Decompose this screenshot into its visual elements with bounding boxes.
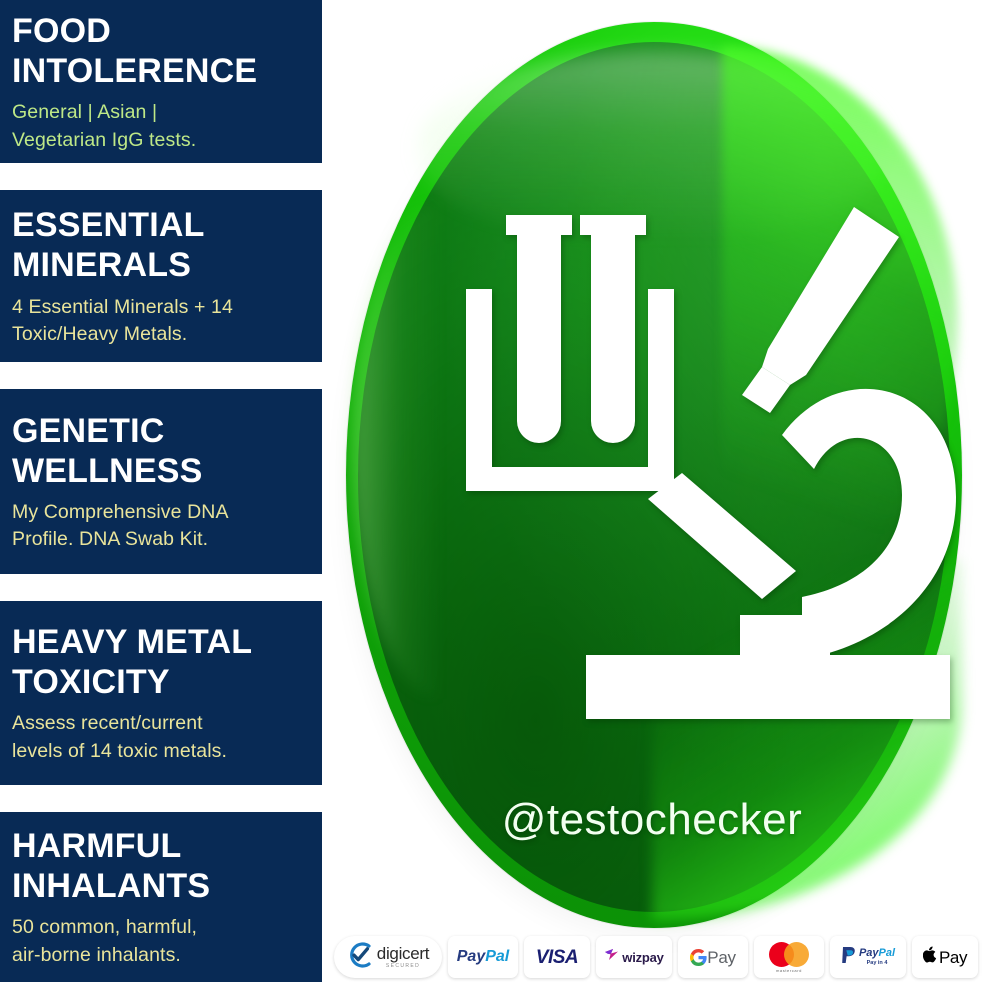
wizpay-swoosh-icon (604, 948, 619, 966)
feature-title: FOOD INTOLERENCE (12, 11, 310, 91)
feature-subtitle: 4 Essential Minerals + 14 Toxic/Heavy Me… (12, 294, 310, 349)
apple-logo-icon (923, 946, 937, 968)
mastercard-circles-icon: mastercard (769, 942, 809, 973)
feature-card-genetic-wellness[interactable]: GENETIC WELLNESS My Comprehensive DNA Pr… (0, 389, 322, 573)
payment-label: Pay (707, 949, 735, 966)
payment-methods-strip: digicert SECURED PayPal VISA wizpay (330, 932, 982, 982)
feature-card-essential-minerals[interactable]: ESSENTIAL MINERALS 4 Essential Minerals … (0, 190, 322, 362)
payment-label-pay: Pay (457, 949, 485, 965)
feature-title: HARMFUL INHALANTS (12, 826, 310, 906)
payment-sublabel: Pay in 4 (867, 961, 888, 967)
payment-badge-paypal[interactable]: PayPal (448, 936, 518, 978)
payment-badge-visa[interactable]: VISA (524, 936, 590, 978)
payment-label: digicert (377, 945, 429, 962)
feature-title: ESSENTIAL MINERALS (12, 205, 310, 285)
microscope-and-test-tubes-icon (410, 185, 970, 785)
check-shield-icon (347, 942, 373, 973)
feature-card-heavy-metal-toxicity[interactable]: HEAVY METAL TOXICITY Assess recent/curre… (0, 601, 322, 785)
card-divider (0, 362, 322, 389)
payment-sublabel: SECURED (386, 964, 420, 969)
feature-title: HEAVY METAL TOXICITY (12, 622, 310, 702)
promo-poster: @testochecker FOOD INTOLERENCE General |… (0, 0, 982, 982)
feature-subtitle: General | Asian | Vegetarian IgG tests. (12, 99, 310, 154)
google-g-icon (690, 949, 707, 966)
payment-label-pal: Pal (485, 949, 509, 965)
payment-badge-google-pay[interactable]: Pay (678, 936, 748, 978)
payment-label: wizpay (622, 951, 663, 964)
feature-subtitle: Assess recent/current levels of 14 toxic… (12, 710, 310, 765)
payment-badge-wizpay[interactable]: wizpay (596, 936, 672, 978)
payment-label: mastercard (776, 968, 802, 973)
payment-badge-mastercard[interactable]: mastercard (754, 936, 824, 978)
paypal-p-icon (841, 946, 857, 969)
feature-title: GENETIC WELLNESS (12, 411, 310, 491)
payment-badge-apple-pay[interactable]: Pay (912, 936, 978, 978)
card-divider (0, 785, 322, 812)
payment-label-pal: Pal (879, 948, 896, 959)
feature-card-food-intolerence[interactable]: FOOD INTOLERENCE General | Asian | Veget… (0, 0, 322, 163)
payment-badge-digicert[interactable]: digicert SECURED (334, 936, 442, 978)
payment-label: Pay (939, 949, 967, 966)
payment-label-pay: Pay (859, 948, 879, 959)
payment-badge-paypal-pay-in-4[interactable]: PayPal Pay in 4 (830, 936, 906, 978)
card-divider (0, 574, 322, 601)
social-handle: @testochecker (322, 795, 982, 845)
payment-label: VISA (536, 948, 578, 967)
feature-subtitle: 50 common, harmful, air-borne inhalants. (12, 914, 310, 969)
feature-card-harmful-inhalants[interactable]: HARMFUL INHALANTS 50 common, harmful, ai… (0, 812, 322, 982)
feature-list: FOOD INTOLERENCE General | Asian | Veget… (0, 0, 322, 982)
card-divider (0, 163, 322, 190)
feature-subtitle: My Comprehensive DNA Profile. DNA Swab K… (12, 499, 310, 554)
